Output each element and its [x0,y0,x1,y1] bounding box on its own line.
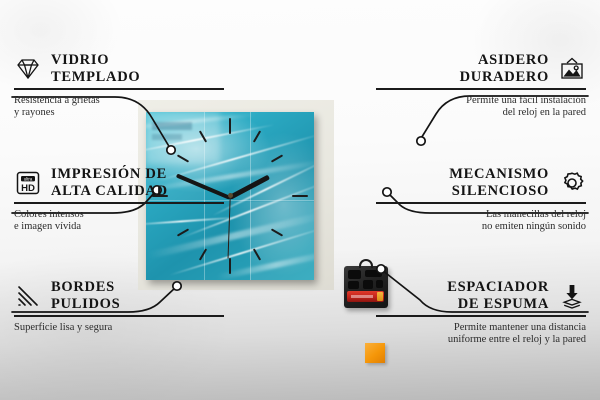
feature-description: Permite una fácil instalación del reloj … [376,95,586,120]
divider [14,88,224,90]
feature-description: Colores intensos e imagen vívida [14,209,224,234]
feature-title-line1: IMPRESIÓN DE [51,166,167,182]
divider [14,315,224,317]
feature-heading: BORDES PULIDOS [14,279,224,312]
arrow-down-layers-icon [558,283,586,309]
ultra-hd-icon: ultra HD [14,170,42,196]
feature-heading: VIDRIO TEMPLADO [14,52,224,85]
diagonal-lines-icon [14,283,42,309]
feature-title-line1: ESPACIADOR [447,279,549,295]
feature-title-line1: VIDRIO [51,52,109,68]
ultra-hd-top-text: ultra [24,176,33,181]
feature-title-line2: DE ESPUMA [458,296,549,312]
diamond-icon [14,56,42,82]
divider [376,202,586,204]
feature-title-line2: DURADERO [460,69,549,85]
divider [376,315,586,317]
feature-description: Las manecillas del reloj no emiten ningú… [376,209,586,234]
picture-frame-hanger-icon [558,56,586,82]
feature-heading: ESPACIADOR DE ESPUMA [376,279,586,312]
feature-impresion-alta-calidad: ultra HD IMPRESIÓN DE ALTA CALIDAD Color… [14,166,224,234]
feature-vidrio-templado: VIDRIO TEMPLADO Resistencia a grietas y … [14,52,224,120]
feature-title-line2: ALTA CALIDAD [51,183,168,199]
feature-heading: ultra HD IMPRESIÓN DE ALTA CALIDAD [14,166,224,199]
feature-asidero-duradero: ASIDERO DURADERO Permite una fácil insta… [376,52,586,120]
feature-espaciador-de-espuma: ESPACIADOR DE ESPUMA Permite mantener un… [376,279,586,347]
divider [14,202,224,204]
feature-description: Permite mantener una distancia uniforme … [376,322,586,347]
ultra-hd-main-text: HD [21,183,35,194]
feature-bordes-pulidos: BORDES PULIDOS Superficie lisa y segura [14,279,224,334]
feature-heading: MECANISMO SILENCIOSO [376,166,586,199]
feature-title-line2: SILENCIOSO [452,183,549,199]
feature-description: Superficie lisa y segura [14,322,224,335]
infographic-canvas: VIDRIO TEMPLADO Resistencia a grietas y … [0,0,600,400]
feature-title-line1: BORDES [51,279,115,295]
feature-title-line1: ASIDERO [478,52,549,68]
divider [376,88,586,90]
feature-title-line2: PULIDOS [51,296,120,312]
feature-mecanismo-silencioso: MECANISMO SILENCIOSO Las manecillas del … [376,166,586,234]
feature-title-line1: MECANISMO [449,166,549,182]
feature-description: Resistencia a grietas y rayones [14,95,224,120]
gear-icon [558,170,586,196]
feature-title-line2: TEMPLADO [51,69,140,85]
feature-heading: ASIDERO DURADERO [376,52,586,85]
